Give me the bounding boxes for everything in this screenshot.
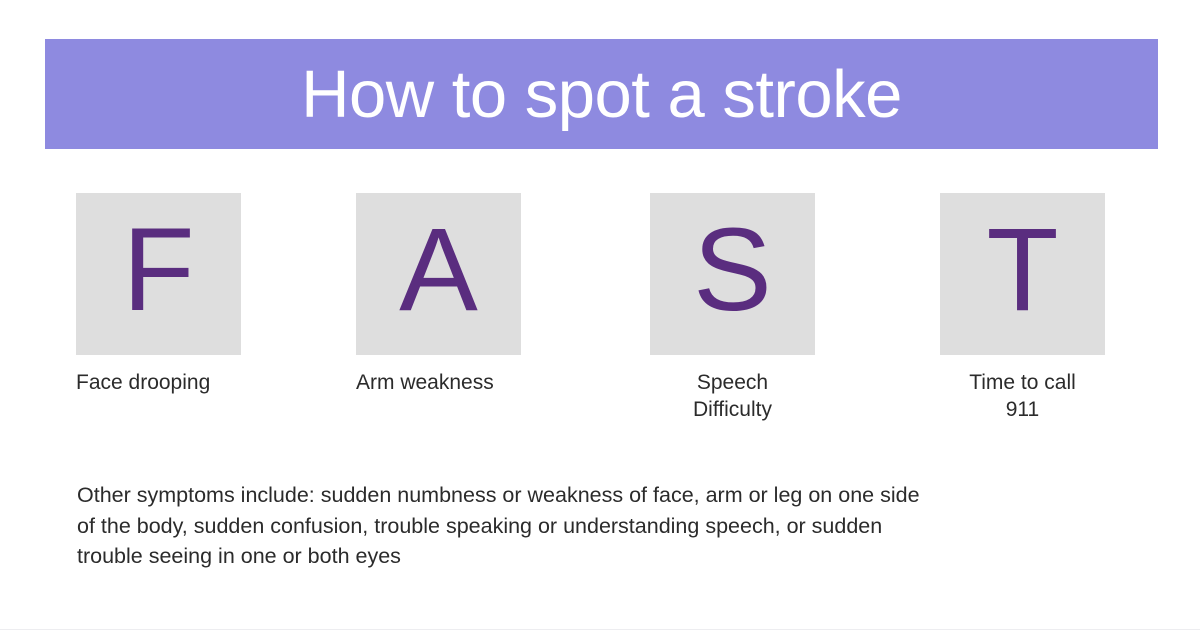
caption-face-line-1: Face drooping: [76, 371, 210, 394]
letter-tile-s: S: [650, 193, 815, 355]
stroke-infographic-poster: How to spot a stroke F Face drooping A A…: [0, 0, 1200, 630]
title-banner: How to spot a stroke: [45, 39, 1158, 149]
letter-glyph-f: F: [122, 211, 194, 329]
caption-arm-weakness: Arm weakness: [356, 370, 521, 397]
caption-time-line-1: Time to call: [969, 371, 1076, 394]
caption-face-drooping: Face drooping: [76, 370, 241, 397]
fast-item-face: F Face drooping: [76, 193, 241, 397]
caption-speech-line-1: Speech: [697, 371, 768, 394]
caption-time-to-call: Time to call 911: [940, 370, 1105, 424]
letter-glyph-a: A: [399, 211, 478, 329]
fast-item-speech: S Speech Difficulty: [650, 193, 815, 424]
letter-tile-a: A: [356, 193, 521, 355]
caption-arm-line-1: Arm weakness: [356, 371, 494, 394]
letter-tile-f: F: [76, 193, 241, 355]
letter-glyph-t: T: [986, 211, 1058, 329]
other-symptoms-note: Other symptoms include: sudden numbness …: [77, 480, 1117, 572]
caption-speech-difficulty: Speech Difficulty: [650, 370, 815, 424]
other-symptoms-line-3: trouble seeing in one or both eyes: [77, 541, 1117, 572]
fast-item-arm: A Arm weakness: [356, 193, 521, 397]
letter-glyph-s: S: [693, 211, 772, 329]
caption-speech-line-2: Difficulty: [693, 398, 772, 421]
other-symptoms-line-2: of the body, sudden confusion, trouble s…: [77, 511, 1117, 542]
letter-tile-t: T: [940, 193, 1105, 355]
fast-acronym-row: F Face drooping A Arm weakness S Speech …: [0, 193, 1200, 443]
other-symptoms-line-1: Other symptoms include: sudden numbness …: [77, 480, 1117, 511]
caption-time-line-2: 911: [1006, 398, 1039, 421]
fast-item-time: T Time to call 911: [940, 193, 1105, 424]
page-title: How to spot a stroke: [301, 61, 902, 128]
